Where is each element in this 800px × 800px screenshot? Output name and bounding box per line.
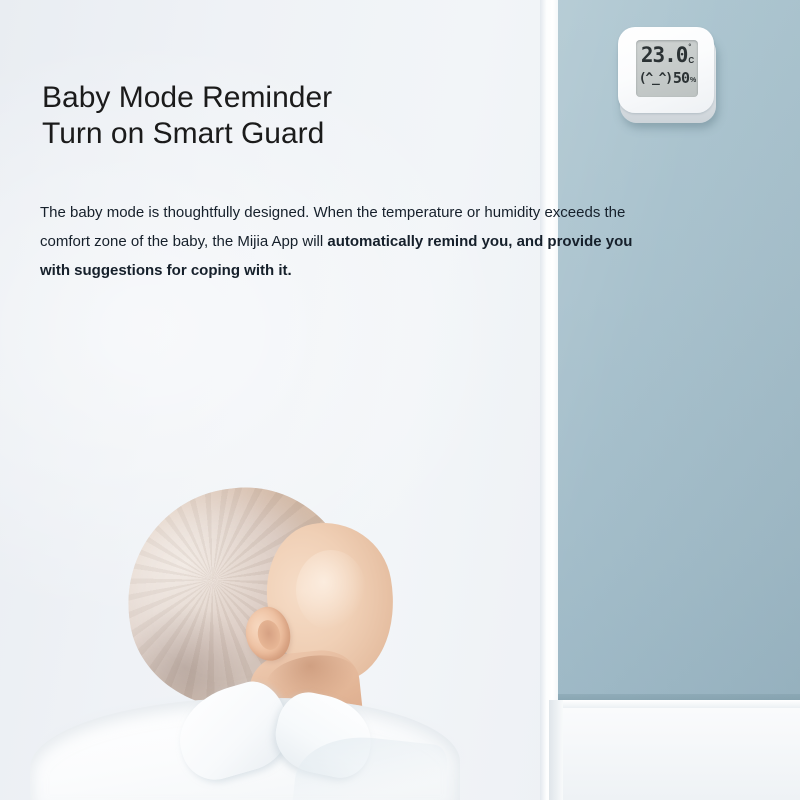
lcd-temperature-unit: C [688,56,694,65]
lower-white-surface-jamb [549,700,563,800]
headline-line-1: Baby Mode Reminder [42,80,562,116]
degree-symbol-icon: ° [688,45,691,51]
lcd-humidity-row: (^_^) 50 % [639,71,696,86]
lcd-temperature-value: 23.0 [641,45,688,66]
lower-white-surface-edge [549,700,800,708]
baby-photo [60,470,460,800]
lcd-humidity-unit: % [690,77,696,84]
headline-line-2: Turn on Smart Guard [42,116,562,152]
lcd-temperature-unit-group: ° C [688,45,694,65]
lcd-humidity-value: 50 [673,71,689,86]
device-lcd-screen: 23.0 ° C (^_^) 50 % [636,40,698,97]
smiley-face-icon: (^_^) [639,72,672,86]
headline: Baby Mode Reminder Turn on Smart Guard [42,80,562,152]
thermo-hygrometer-device: 23.0 ° C (^_^) 50 % [618,27,718,123]
lcd-temperature-row: 23.0 ° C [639,45,696,66]
body-paragraph: The baby mode is thoughtfully designed. … [40,198,660,285]
baby-cheek-highlight [296,550,366,630]
lower-white-surface [549,700,800,800]
device-body: 23.0 ° C (^_^) 50 % [618,27,714,113]
promo-scene: 23.0 ° C (^_^) 50 % Baby Mode Reminder T… [0,0,800,800]
